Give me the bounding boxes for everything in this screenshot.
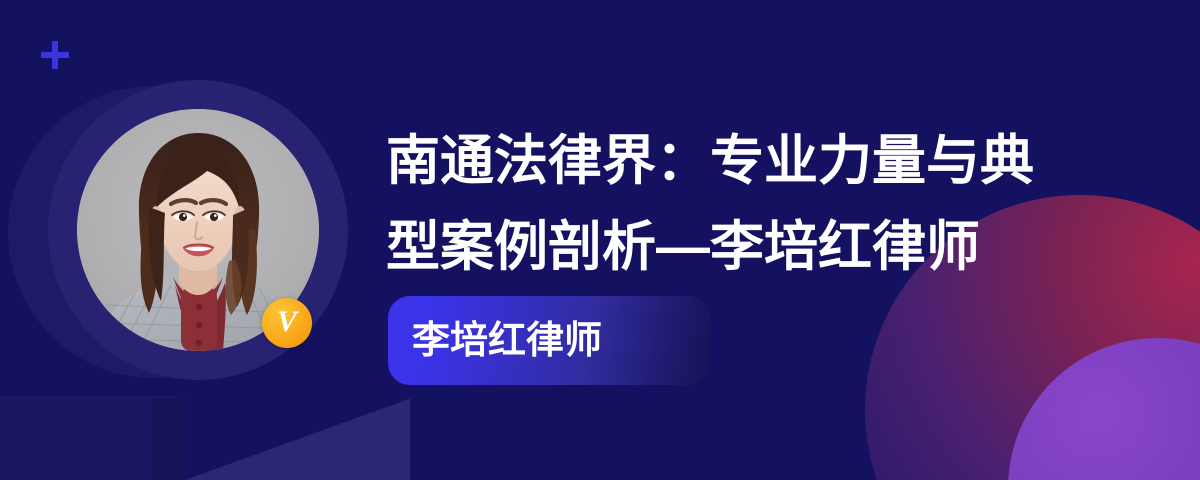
banner-content: 南通法律界：专业力量与典型案例剖析—李培红律师 李培红律师 — [386, 0, 1086, 480]
lawyer-name-label: 李培红律师 — [388, 322, 602, 360]
lawyer-name-chip[interactable]: 李培红律师 — [388, 296, 710, 385]
page-title: 南通法律界：专业力量与典型案例剖析—李培红律师 — [386, 118, 1076, 290]
decorative-triangle-shape — [186, 399, 410, 480]
plus-icon — [41, 41, 69, 69]
avatar[interactable]: V — [48, 80, 348, 380]
promo-banner: V 南通法律界：专业力量与典型案例剖析—李培红律师 李培红律师 — [0, 0, 1200, 480]
decorative-band-shape — [0, 396, 176, 480]
verified-badge-icon: V — [262, 298, 312, 348]
verified-badge-glyph: V — [277, 307, 297, 337]
decorative-column-shape — [152, 398, 188, 480]
